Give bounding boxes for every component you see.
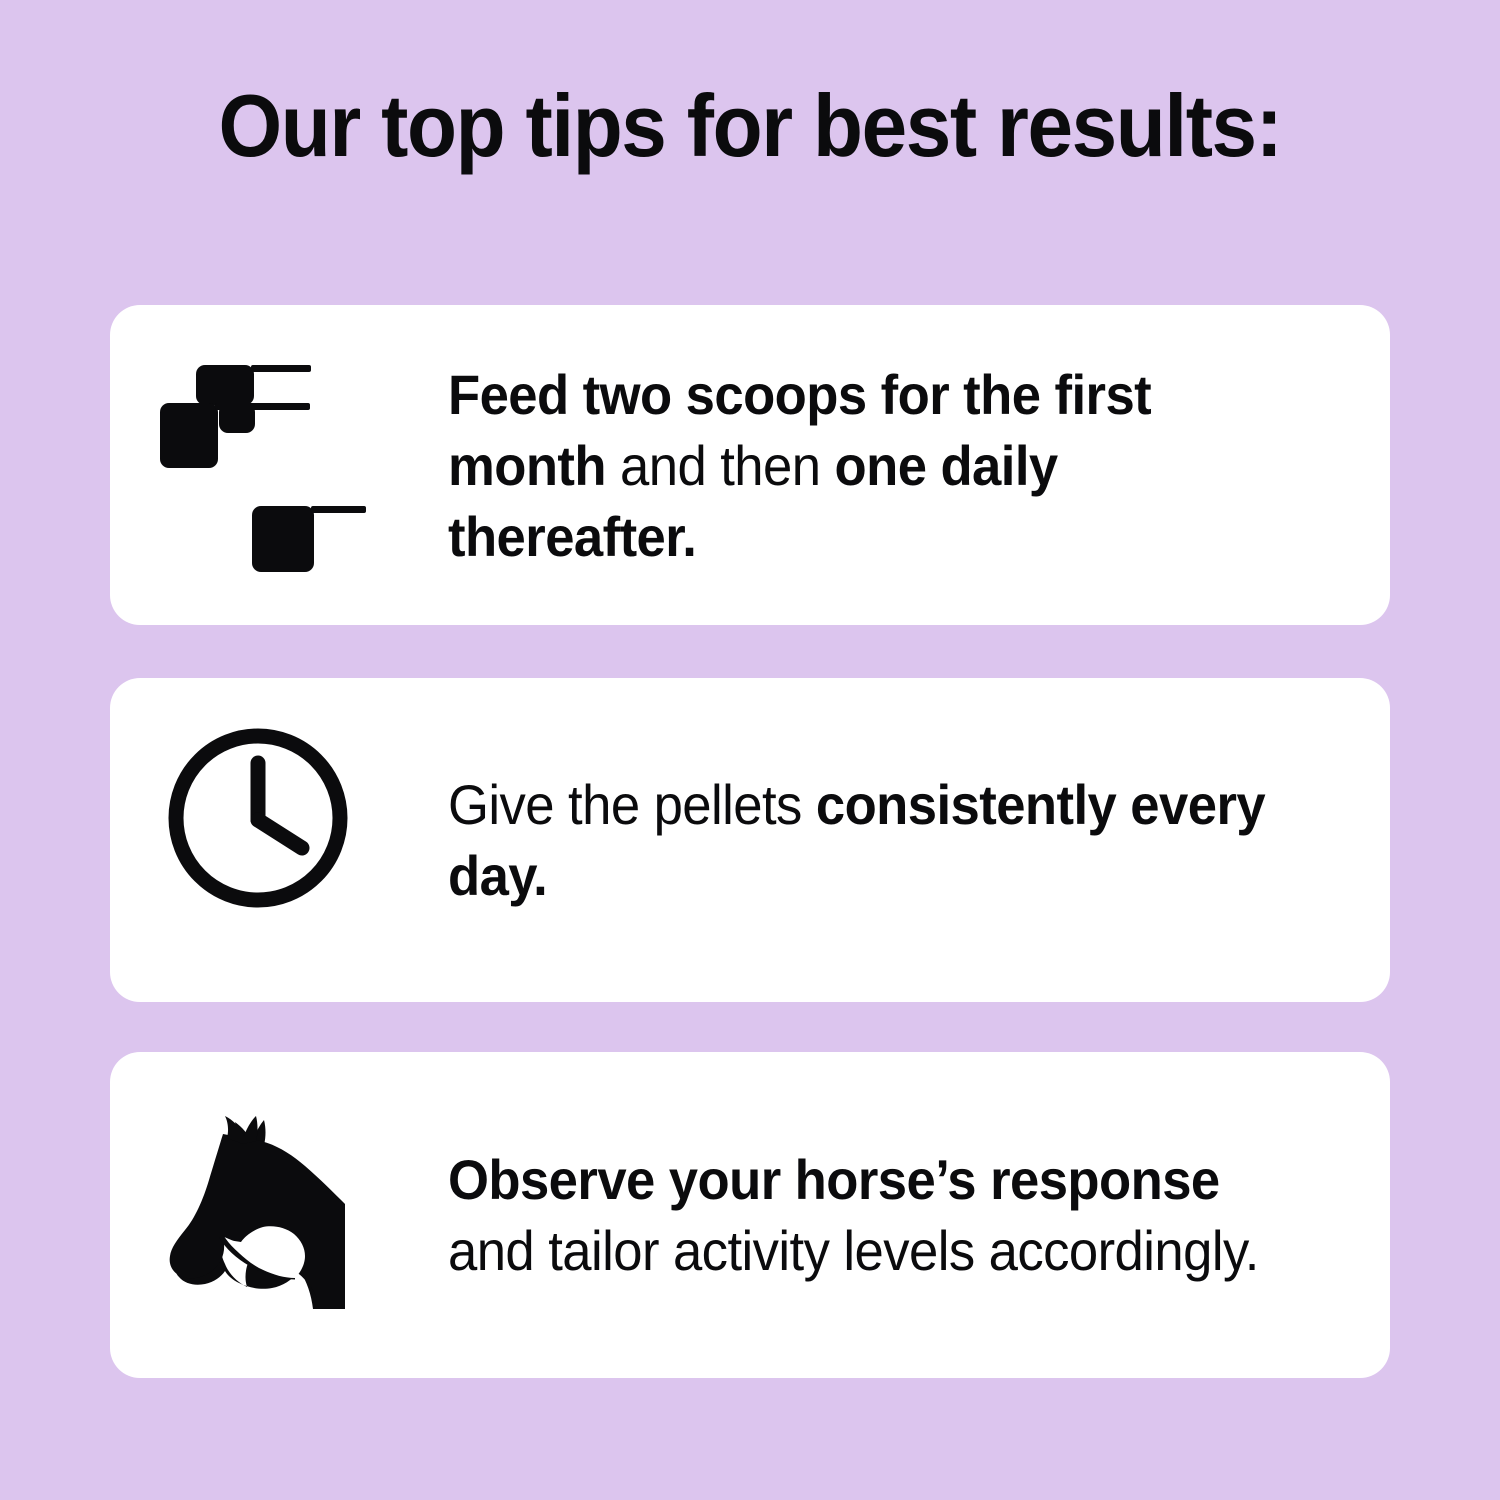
scoop-handle — [311, 506, 366, 513]
tip-card-1-segment-2: and then — [606, 434, 835, 497]
tip-card-2: Give the pellets consistently every day. — [110, 678, 1390, 1002]
scoop-handle — [215, 403, 271, 410]
scoop-handle — [251, 365, 311, 372]
clock-icon — [168, 728, 348, 908]
scoop-bowl — [252, 506, 314, 572]
tip-card-3-text: Observe your horse’s response and tailor… — [448, 1144, 1303, 1286]
scoop-bowl — [160, 403, 218, 468]
tip-card-2-icon-slot — [110, 678, 448, 1002]
tip-card-1: Feed two scoops for the first month and … — [110, 305, 1390, 625]
tip-card-2-segment-1: Give the pellets — [448, 773, 816, 836]
scoop-bowl — [196, 365, 254, 405]
tip-card-3: Observe your horse’s response and tailor… — [110, 1052, 1390, 1378]
tip-card-3-segment-2: and tailor activity levels accordingly. — [448, 1219, 1259, 1282]
page-title: Our top tips for best results: — [53, 78, 1448, 174]
horse-head-icon — [165, 1114, 365, 1309]
tip-card-3-icon-slot — [110, 1052, 448, 1378]
scoop-icon — [156, 353, 396, 578]
tip-card-1-text: Feed two scoops for the first month and … — [448, 359, 1303, 572]
tip-card-2-text: Give the pellets consistently every day. — [448, 769, 1303, 911]
tip-card-3-segment-1: Observe your horse’s response — [448, 1148, 1220, 1211]
tip-card-1-icon-slot — [110, 305, 448, 625]
tips-infographic: Our top tips for best results: — [0, 0, 1500, 1500]
clock-minute-hand — [258, 820, 302, 848]
